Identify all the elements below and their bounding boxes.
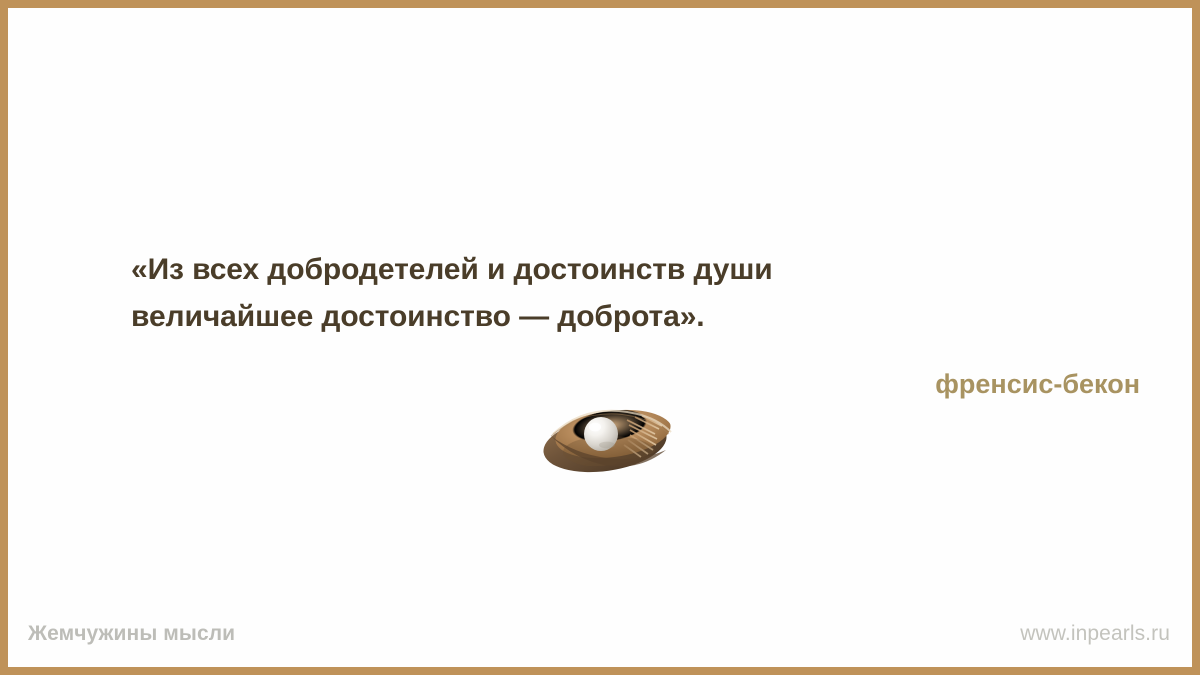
footer-brand-label: Жемчужины мысли xyxy=(28,622,235,646)
quote-card: «Из всех добродетелей и достоинств души … xyxy=(0,0,1200,675)
quote-text: «Из всех добродетелей и достоинств души … xyxy=(131,246,1091,340)
quote-block: «Из всех добродетелей и достоинств души … xyxy=(131,246,1091,340)
shell-with-pearl-illustration xyxy=(535,400,685,478)
author-row: френсис-бекон xyxy=(935,368,1140,400)
author-name: френсис-бекон xyxy=(935,368,1140,400)
footer: Жемчужины мысли www.inpearls.ru xyxy=(16,619,1184,649)
footer-site-url[interactable]: www.inpearls.ru xyxy=(1020,622,1170,646)
